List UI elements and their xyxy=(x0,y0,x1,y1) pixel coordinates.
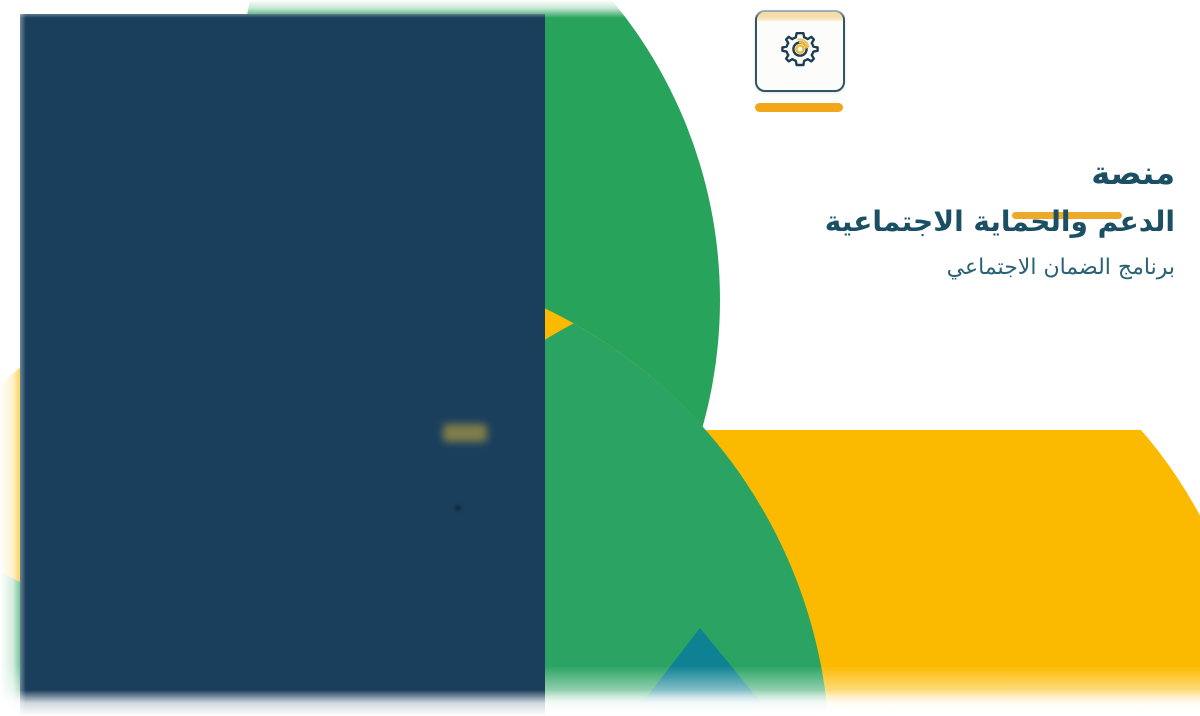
social-security-banner: نظام الضمان الاجتماعي المطور منصة الدعم … xyxy=(0,0,1200,716)
logo xyxy=(755,10,1173,112)
brand-text: منصة الدعم والحماية الاجتماعية برنامج ال… xyxy=(755,154,1175,283)
brand-program-name: برنامج الضمان الاجتماعي xyxy=(755,254,1175,283)
hero-panel xyxy=(20,14,545,716)
image-artifact-dot xyxy=(455,505,461,511)
logo-underline xyxy=(755,103,843,112)
logo-frame xyxy=(755,10,845,92)
page-title-line-2: الاجتماعي المطور xyxy=(720,317,1150,379)
brand-name-secondary: الدعم والحماية الاجتماعية xyxy=(755,204,1175,240)
brand-lockup: منصة الدعم والحماية الاجتماعية برنامج ال… xyxy=(755,10,1175,283)
brand-name-primary: منصة xyxy=(755,154,1175,192)
image-artifact-highlight xyxy=(443,424,487,442)
gear-icon xyxy=(776,27,824,75)
